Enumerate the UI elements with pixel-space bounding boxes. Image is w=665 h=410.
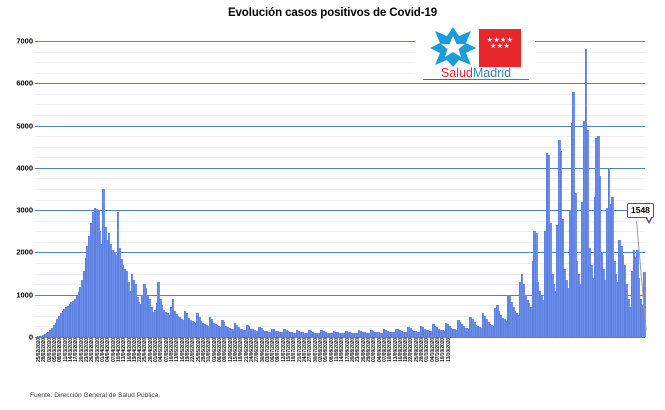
- y-axis-tick-label: 6000: [0, 79, 33, 88]
- y-axis-tick-label: 0: [0, 333, 33, 342]
- saludmadrid-logo: ★★★★★★★ SaludMadrid: [415, 27, 535, 82]
- page-title: Evolución casos positivos de Covid-19: [0, 7, 665, 19]
- callout-pointer-inner-icon: [646, 216, 652, 221]
- y-axis-tick-label: 2000: [0, 248, 33, 257]
- logo-salud-text: Salud: [441, 66, 473, 80]
- y-axis-tick-label: 1000: [0, 290, 33, 299]
- madrid-star-icon: [429, 27, 477, 67]
- y-axis-tick-label: 4000: [0, 163, 33, 172]
- y-axis-tick-label: 5000: [0, 121, 33, 130]
- y-axis-tick-label: 3000: [0, 206, 33, 215]
- covid-cases-chart: Evolución casos positivos de Covid-19 01…: [0, 0, 665, 410]
- logo-underline: [423, 79, 529, 80]
- flag-stars-icon: ★★★★★★★: [479, 38, 521, 49]
- madrid-flag-icon: ★★★★★★★: [479, 29, 521, 67]
- source-note: Fuente: Dirección General de Salud Públi…: [30, 392, 160, 399]
- x-axis-tick-label: 13/10/2020: [446, 338, 452, 362]
- plot-area: [35, 41, 645, 337]
- logo-madrid-text: Madrid: [473, 66, 511, 80]
- y-axis-tick-label: 7000: [0, 37, 33, 46]
- logo-wordmark: SaludMadrid: [423, 66, 529, 80]
- y-axis: 01000200030004000500060007000: [0, 0, 33, 410]
- x-axis: 25/02/202028/02/202002/03/202005/03/2020…: [35, 338, 645, 386]
- bars-layer: [35, 41, 645, 337]
